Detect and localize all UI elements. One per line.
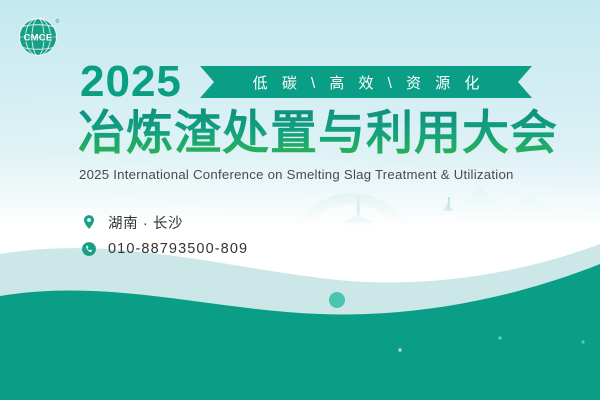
phone-icon	[80, 240, 98, 258]
main-title-cn: 冶炼渣处置与利用大会	[78, 106, 558, 160]
conference-banner: CMCE ® 2025 低 碳 \ 高 效 \ 资 源 化 冶炼渣处置与利用大会…	[0, 0, 600, 400]
logo-trademark: ®	[56, 18, 60, 25]
logo-text: CMCE	[24, 32, 53, 43]
wave-dot	[329, 292, 345, 308]
wave-dot	[248, 254, 252, 258]
year-heading: 2025	[80, 60, 182, 104]
wave-dot	[581, 340, 584, 343]
phone-text: 010-88793500-809	[108, 241, 248, 257]
cmce-logo[interactable]: CMCE ®	[17, 13, 63, 59]
subtitle-en: 2025 International Conference on Smeltin…	[79, 167, 514, 183]
phone-row: 010-88793500-809	[80, 237, 248, 261]
location-text: 湖南 · 长沙	[108, 212, 183, 233]
wave-dot	[270, 264, 273, 267]
contact-info: 湖南 · 长沙 010-88793500-809	[80, 210, 248, 264]
wave-dot	[398, 348, 402, 352]
location-row: 湖南 · 长沙	[80, 210, 248, 234]
location-pin-icon	[80, 213, 98, 231]
slogan-text: 低 碳 \ 高 效 \ 资 源 化	[200, 66, 532, 98]
wave-dot	[498, 336, 501, 339]
